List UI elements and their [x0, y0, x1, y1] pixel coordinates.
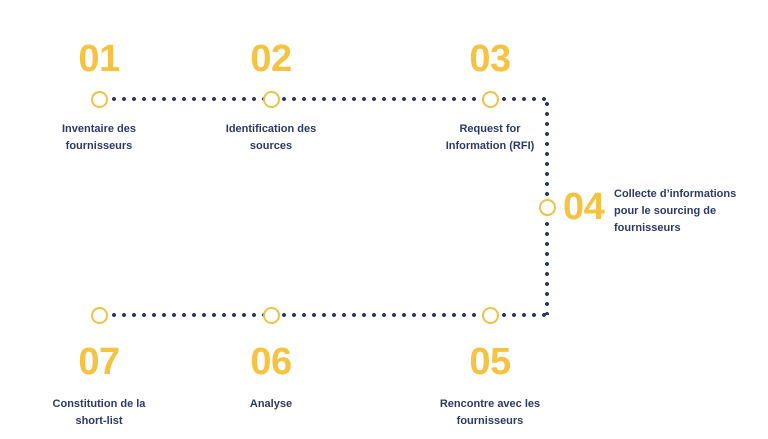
node-step-05[interactable] — [482, 307, 499, 324]
node-step-02[interactable] — [263, 91, 280, 108]
step-number-07: 07 — [78, 343, 119, 381]
step-label-02: Identification des sources — [171, 121, 371, 155]
node-step-04[interactable] — [539, 199, 556, 216]
step-label-04: Collecte d’informations pour le sourcing… — [614, 186, 768, 237]
node-step-06[interactable] — [263, 307, 280, 324]
step-number-01: 01 — [78, 40, 119, 78]
node-step-03[interactable] — [482, 91, 499, 108]
step-number-02: 02 — [250, 40, 291, 78]
step-label-07: Constitution de la short-list — [0, 396, 199, 430]
step-number-05: 05 — [469, 343, 510, 381]
step-label-05: Rencontre avec les fournisseurs — [385, 396, 595, 430]
step-number-03: 03 — [469, 40, 510, 78]
connector-bottom-horizontal — [99, 310, 548, 320]
connector-top-horizontal — [99, 94, 548, 104]
step-label-01: Inventaire des fournisseurs — [0, 121, 199, 155]
step-label-06: Analyse — [171, 396, 371, 413]
step-number-04: 04 — [563, 188, 604, 226]
step-number-06: 06 — [250, 343, 291, 381]
node-step-01[interactable] — [91, 91, 108, 108]
step-label-03: Request for Information (RFI) — [390, 121, 590, 155]
node-step-07[interactable] — [91, 307, 108, 324]
process-flow-infographic: 01 Inventaire des fournisseurs 02 Identi… — [0, 0, 768, 439]
